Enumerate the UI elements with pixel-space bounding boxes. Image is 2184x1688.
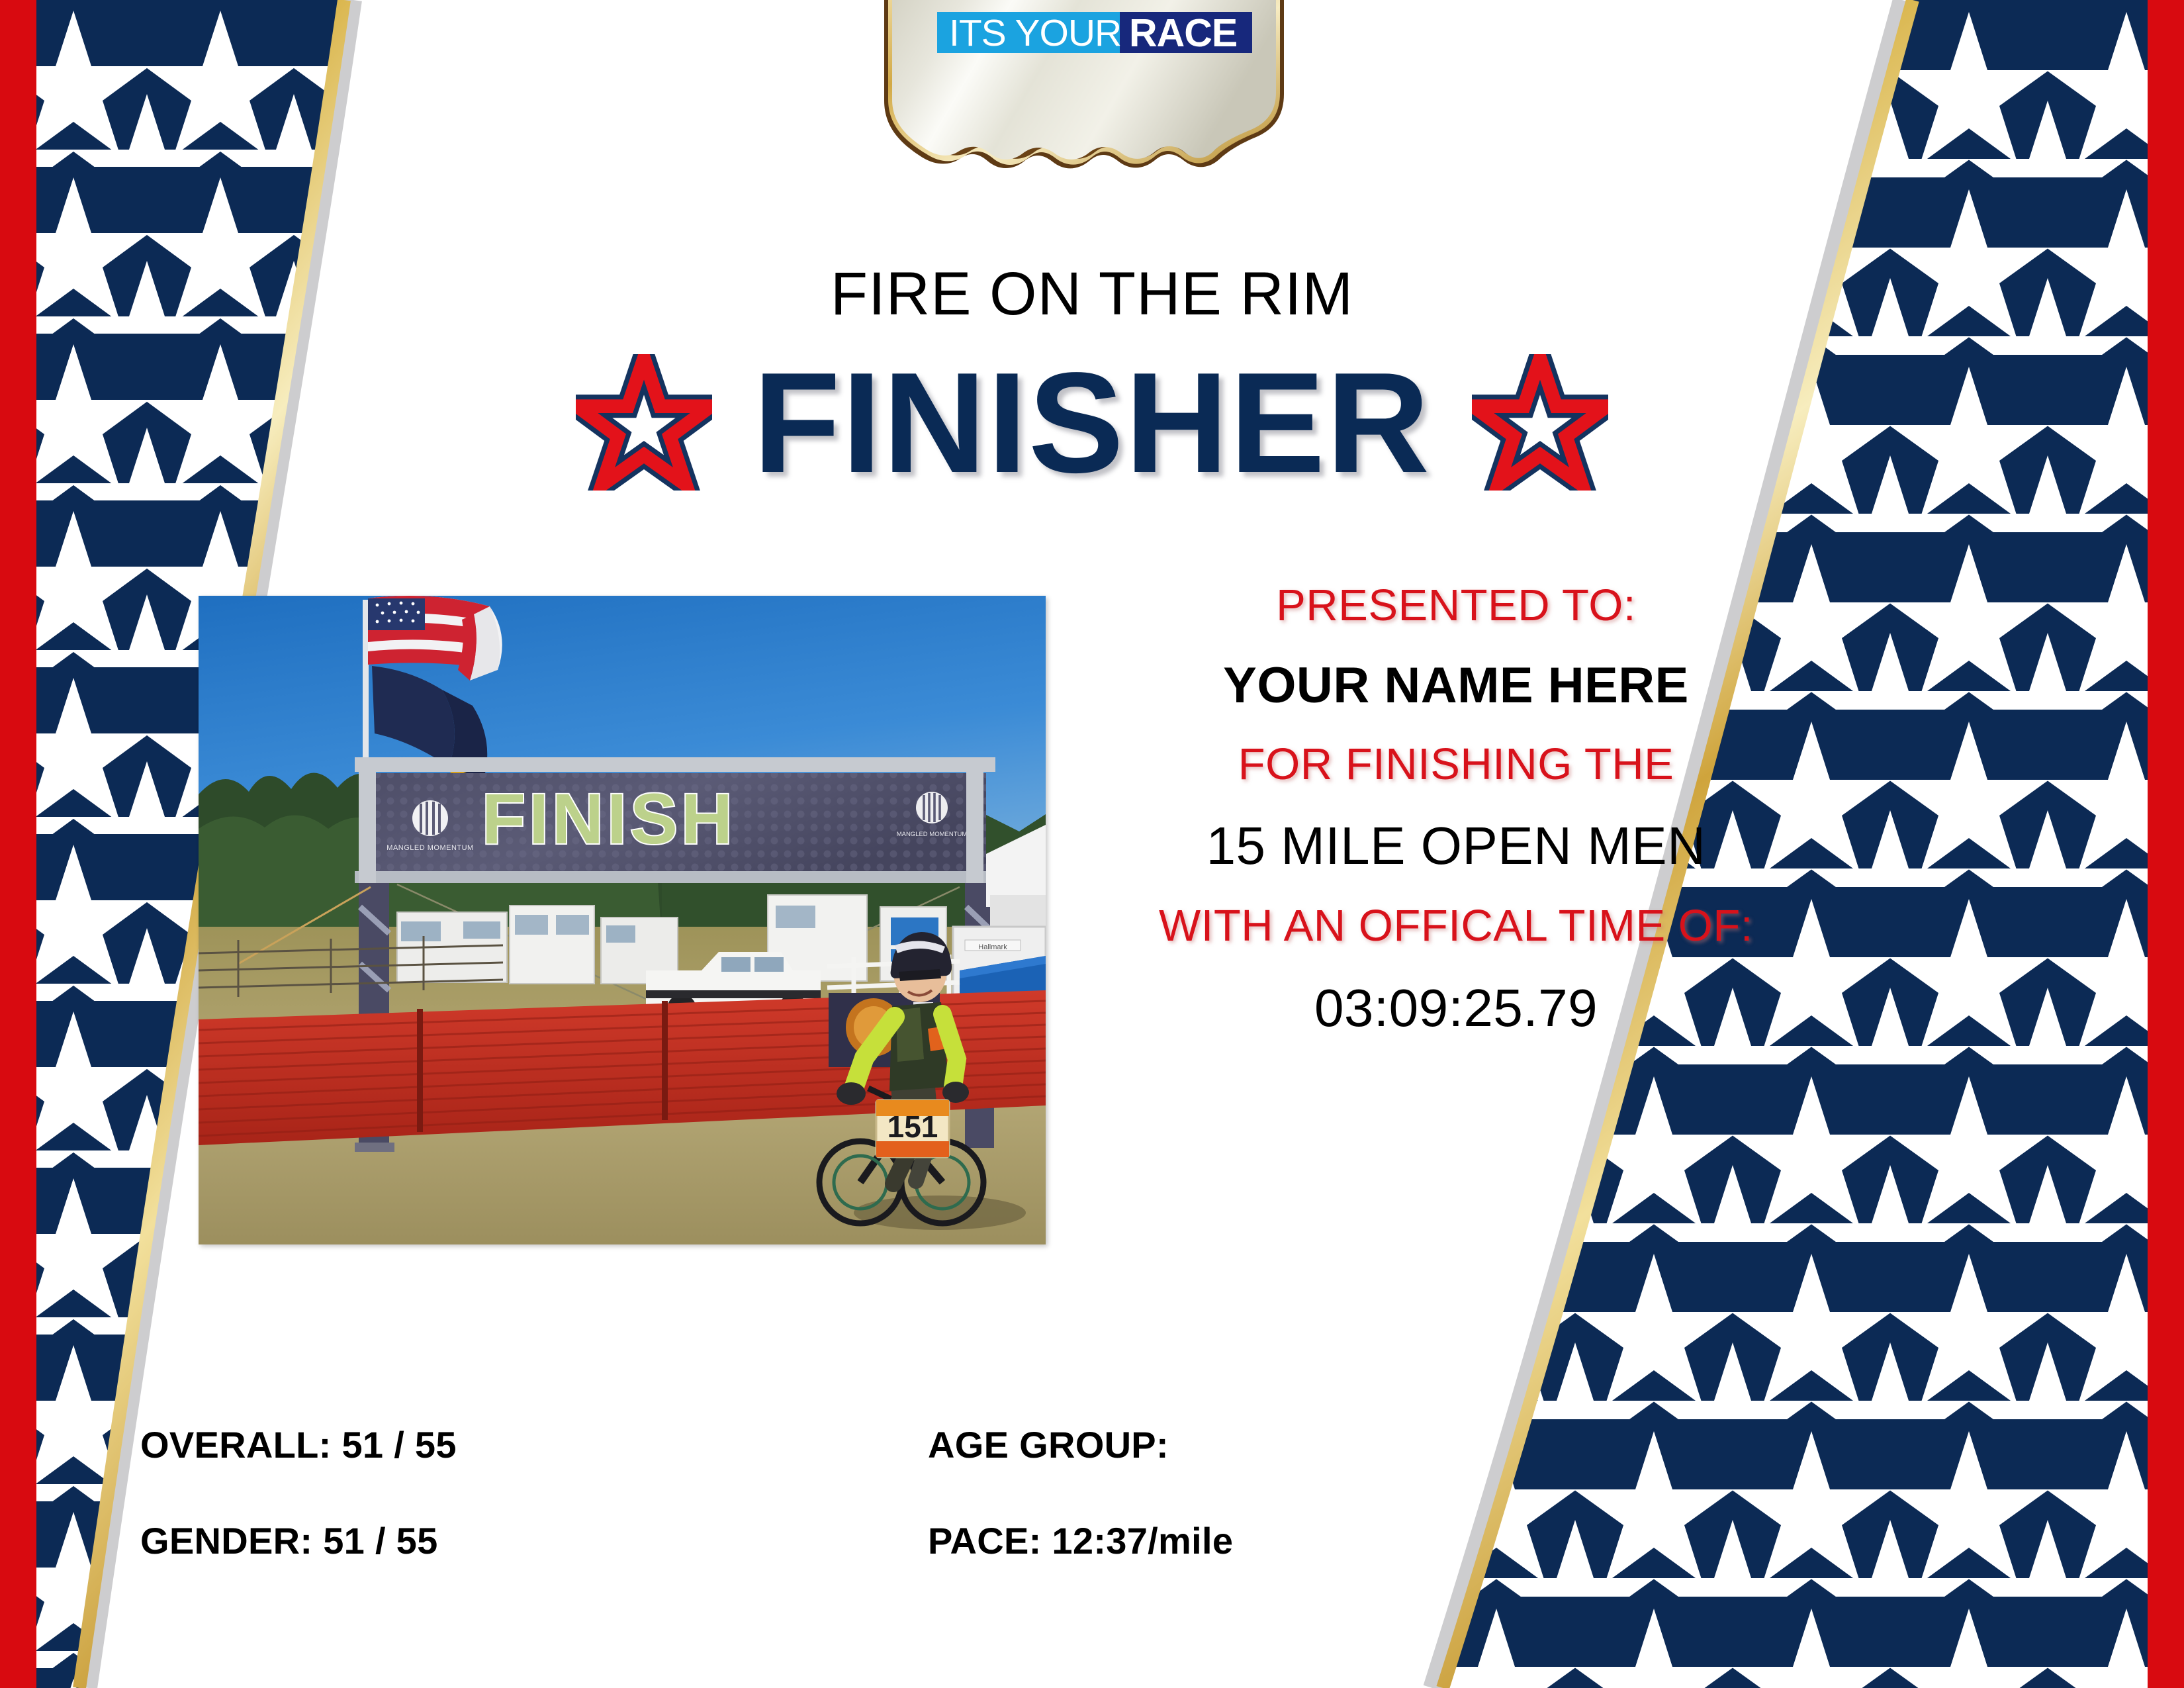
photo-bib-number: 151 xyxy=(887,1109,938,1144)
stat-age-group: AGE GROUP: xyxy=(928,1423,1398,1466)
award-title: FINISHER xyxy=(753,351,1431,494)
for-finishing-label: FOR FINISHING THE xyxy=(1059,741,1853,788)
logo-text-its-your: ITS YOUR xyxy=(949,12,1121,54)
stat-overall: OVERALL: 51 / 55 xyxy=(140,1423,928,1466)
presented-to-label: PRESENTED TO: xyxy=(1059,583,1853,629)
finish-line-photo: MANGLED MOMENTUM MANGLED MOMENTUM FINISH xyxy=(199,596,1046,1244)
right-star-icon xyxy=(1472,354,1608,491)
official-time-label: WITH AN OFFICAL TIME OF: xyxy=(1059,903,1853,949)
results-stats: OVERALL: 51 / 55 AGE GROUP: GENDER: 51 /… xyxy=(140,1423,1398,1562)
award-title-row: FINISHER xyxy=(0,351,2184,494)
award-details: PRESENTED TO: YOUR NAME HERE FOR FINISHI… xyxy=(1059,583,1853,1036)
photo-bib-plate: 151 xyxy=(876,1100,949,1157)
logo-text-race: RACE xyxy=(1129,11,1237,55)
event-category: 15 MILE OPEN MEN xyxy=(1059,818,1853,874)
left-star-icon xyxy=(576,354,712,491)
official-time: 03:09:25.79 xyxy=(1059,980,1853,1036)
svg-text:MANGLED MOMENTUM: MANGLED MOMENTUM xyxy=(897,831,968,838)
svg-text:Hallmark: Hallmark xyxy=(978,943,1007,951)
photo-content: MANGLED MOMENTUM MANGLED MOMENTUM FINISH xyxy=(199,596,1046,1244)
badge-graphic: ITS YOUR RACE xyxy=(872,0,1296,192)
stat-pace: PACE: 12:37/mile xyxy=(928,1519,1398,1562)
recipient-name: YOUR NAME HERE xyxy=(1059,659,1853,712)
stat-gender: GENDER: 51 / 55 xyxy=(140,1519,928,1562)
its-your-race-logo: ITS YOUR RACE xyxy=(872,0,1296,192)
photo-banner-text: FINISH xyxy=(482,778,736,859)
race-name-title: FIRE ON THE RIM xyxy=(0,259,2184,329)
photo-sponsor-text: MANGLED MOMENTUM xyxy=(387,844,473,852)
